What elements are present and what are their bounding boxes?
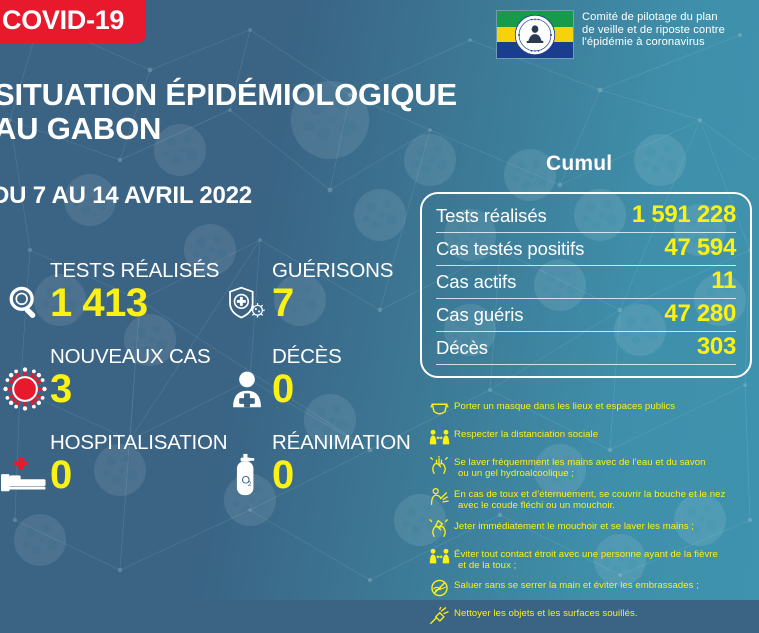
cumul-label: Cas testés positifs xyxy=(436,238,584,260)
stat-label: DÉCÈS xyxy=(272,346,342,368)
clean-surfaces-icon xyxy=(424,605,454,627)
report-period: DU 7 AU 14 AVRIL 2022 xyxy=(0,182,252,210)
stat-value: 0 xyxy=(272,369,342,409)
cumul-row: Cas guéris 47 280 xyxy=(436,299,736,332)
tip-item: Porter un masque dans les lieux et espac… xyxy=(424,398,754,420)
cumul-label: Tests réalisés xyxy=(436,205,547,227)
prevention-tips-list: Porter un masque dans les lieux et espac… xyxy=(424,398,754,633)
tip-text: Éviter tout contact étroit avec une pers… xyxy=(454,546,718,572)
svg-text:2: 2 xyxy=(248,481,252,488)
org-line-2: de veille et de riposte contre xyxy=(582,24,725,37)
stat-label: TESTS RÉALISÉS xyxy=(50,260,219,282)
stat-tests-realises: TESTS RÉALISÉS 1 413 xyxy=(0,258,222,344)
tip-item: Se laver fréquemment les mains avec de l… xyxy=(424,454,754,480)
social-distance-icon xyxy=(424,426,454,448)
tip-line-1: Respecter la distanciation sociale xyxy=(454,429,598,440)
tip-text: Saluer sans se serrer la main et éviter … xyxy=(454,577,699,591)
tip-line-1: Saluer sans se serrer la main et éviter … xyxy=(454,580,699,591)
tip-text: Respecter la distanciation sociale xyxy=(454,426,598,440)
tip-line-2: ou un gel hydroalcoolique ; xyxy=(454,468,706,479)
tip-line-1: Jeter immédiatement le mouchoir et se la… xyxy=(454,521,694,532)
mask-icon xyxy=(424,398,454,420)
org-line-3: l'épidémie à coronavirus xyxy=(582,36,725,49)
tip-item: Saluer sans se serrer la main et éviter … xyxy=(424,577,754,599)
stat-label: NOUVEAUX CAS xyxy=(50,346,211,368)
cumul-value: 11 xyxy=(711,267,736,295)
daily-stats-grid: TESTS RÉALISÉS 1 413 xyxy=(0,258,420,516)
cumul-row: Tests réalisés 1 591 228 xyxy=(436,200,736,233)
page-title: SITUATION ÉPIDÉMIOLOGIQUE AU GABON xyxy=(0,78,457,146)
avoid-contact-icon xyxy=(424,546,454,568)
tip-line-2: avec le coude fléchi ou un mouchoir. xyxy=(454,500,725,511)
magnifier-icon xyxy=(0,258,50,332)
tip-item: Jeter immédiatement le mouchoir et se la… xyxy=(424,518,754,540)
hospital-bed-icon xyxy=(0,430,50,504)
stat-value: 1 413 xyxy=(50,283,219,323)
organization-logo: ★ ★ ★ ★ ★ ★ Comité de pilotage du plan d… xyxy=(497,11,725,58)
cumul-row: Cas actifs 11 xyxy=(436,266,736,299)
stats-row-1: TESTS RÉALISÉS 1 413 xyxy=(0,258,420,344)
stat-label: HOSPITALISATION xyxy=(50,432,227,454)
stat-guerisons: GUÉRISONS 7 xyxy=(222,258,420,344)
tip-text: Se laver fréquemment les mains avec de l… xyxy=(454,454,706,480)
stat-label: GUÉRISONS xyxy=(272,260,393,282)
cumul-label: Décès xyxy=(436,337,488,359)
title-line-1: SITUATION ÉPIDÉMIOLOGIQUE xyxy=(0,78,457,112)
tip-line-1: Nettoyer les objets et les surfaces soui… xyxy=(454,608,638,619)
stat-value: 7 xyxy=(272,283,393,323)
tip-text: En cas de toux et d’éternuement, se couv… xyxy=(454,486,725,512)
svg-text:★ ★ ★: ★ ★ ★ xyxy=(530,48,540,52)
cumul-value: 1 591 228 xyxy=(632,201,736,229)
tip-item: Nettoyer les objets et les surfaces soui… xyxy=(424,605,754,627)
stat-nouveaux-cas: NOUVEAUX CAS 3 xyxy=(0,344,222,430)
coronavirus-icon xyxy=(0,344,50,418)
svg-text:★ ★ ★: ★ ★ ★ xyxy=(530,17,540,21)
cumul-row: Cas testés positifs 47 594 xyxy=(436,233,736,266)
tip-text: Nettoyer les objets et les surfaces soui… xyxy=(454,605,638,619)
tip-line-1: Porter un masque dans les lieux et espac… xyxy=(454,401,675,412)
stat-hospitalisation: HOSPITALISATION 0 xyxy=(0,430,222,516)
tissue-discard-icon xyxy=(424,518,454,540)
no-handshake-icon xyxy=(424,577,454,599)
stat-value: 3 xyxy=(50,369,211,409)
tip-line-1: Se laver fréquemment les mains avec de l… xyxy=(454,457,706,468)
cumul-value: 303 xyxy=(697,333,736,361)
cumul-row: Décès 303 xyxy=(436,332,736,365)
stats-row-2: NOUVEAUX CAS 3 DÉCÈS 0 xyxy=(0,344,420,430)
person-cross-icon xyxy=(222,344,272,418)
stat-value: 0 xyxy=(272,455,411,495)
tip-item: En cas de toux et d’éternuement, se couv… xyxy=(424,486,754,512)
shield-cross-virus-icon xyxy=(222,258,272,332)
stats-row-3: HOSPITALISATION 0 O 2 RÉANIMATION xyxy=(0,430,420,516)
cumul-value: 47 594 xyxy=(664,234,736,262)
cumul-heading: Cumul xyxy=(546,152,612,176)
title-line-2: AU GABON xyxy=(0,112,457,146)
covid-19-badge: COVID-19 xyxy=(0,0,146,43)
cumul-value: 47 280 xyxy=(664,300,736,328)
tip-line-1: En cas de toux et d’éternuement, se couv… xyxy=(454,489,725,500)
stat-label: RÉANIMATION xyxy=(272,432,411,454)
organization-name: Comité de pilotage du plan de veille et … xyxy=(582,11,725,49)
cumul-label: Cas actifs xyxy=(436,271,516,293)
tip-line-1: Éviter tout contact étroit avec une pers… xyxy=(454,549,718,560)
stat-value: 0 xyxy=(50,455,227,495)
stat-reanimation: O 2 RÉANIMATION 0 xyxy=(222,430,420,516)
cumul-card: Tests réalisés 1 591 228 Cas testés posi… xyxy=(420,192,752,378)
stat-deces: DÉCÈS 0 xyxy=(222,344,420,430)
tip-text: Jeter immédiatement le mouchoir et se la… xyxy=(454,518,694,532)
tip-item: Respecter la distanciation sociale xyxy=(424,426,754,448)
tip-item: Éviter tout contact étroit avec une pers… xyxy=(424,546,754,572)
cumul-label: Cas guéris xyxy=(436,304,523,326)
oxygen-tank-icon: O 2 xyxy=(222,430,272,504)
tip-text: Porter un masque dans les lieux et espac… xyxy=(454,398,675,412)
tip-line-2: et de la toux ; xyxy=(454,560,718,571)
republic-seal-icon: ★ ★ ★ ★ ★ ★ xyxy=(514,14,556,56)
org-line-1: Comité de pilotage du plan xyxy=(582,11,725,24)
gabon-flag-icon: ★ ★ ★ ★ ★ ★ xyxy=(497,11,573,58)
cough-elbow-icon xyxy=(424,486,454,508)
wash-hands-icon xyxy=(424,454,454,476)
